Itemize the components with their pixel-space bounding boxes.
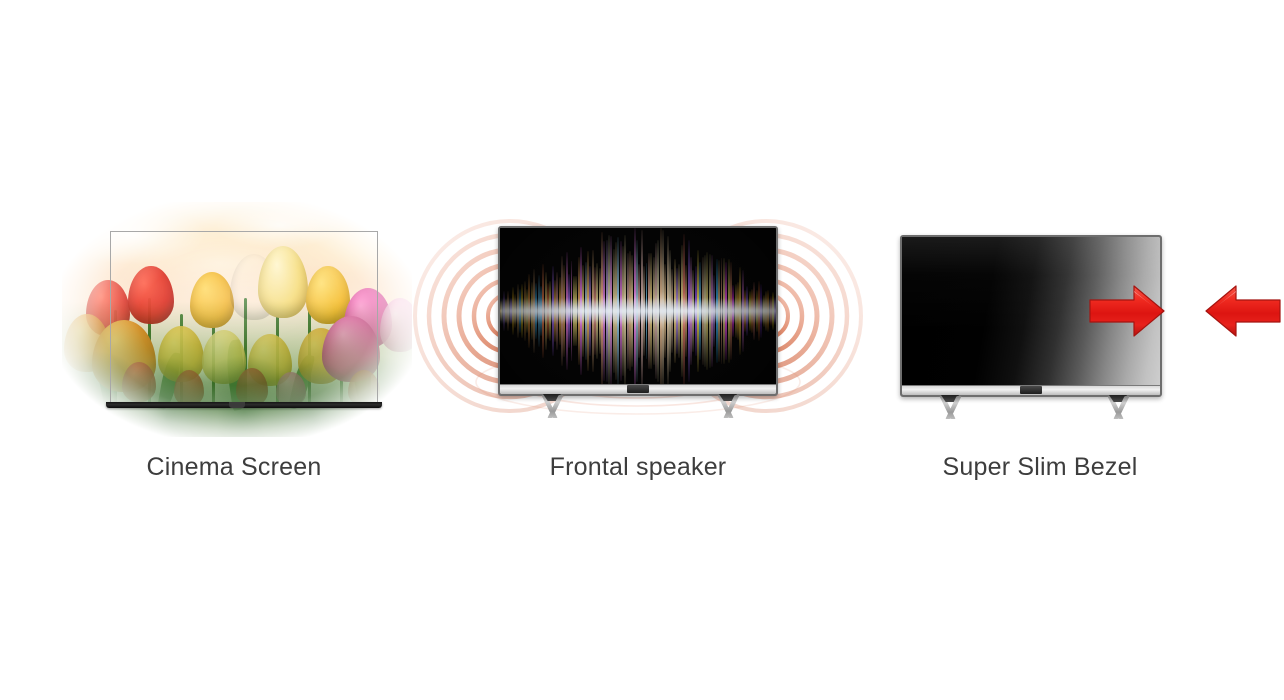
lg-logo-badge	[627, 385, 649, 393]
spectrum-vignette	[500, 228, 776, 394]
lg-logo-badge	[229, 402, 245, 408]
slim-bezel-arrow-pair	[1090, 282, 1280, 342]
caption-cinema-screen: Cinema Screen	[44, 455, 424, 480]
feature-super-slim-bezel: Super Slim Bezel	[850, 180, 1230, 490]
bezel-tv-chin	[902, 385, 1160, 395]
caption-super-slim-bezel: Super Slim Bezel	[850, 455, 1230, 480]
feature-showcase-stage: Cinema Screen	[0, 0, 1284, 700]
speaker-tv-body	[498, 226, 778, 396]
caption-frontal-speaker: Frontal speaker	[448, 455, 828, 480]
lg-logo-badge	[1020, 386, 1042, 394]
feature-frontal-speaker: Frontal speaker	[448, 180, 828, 490]
speaker-tv-chin	[500, 384, 776, 394]
arrow-pointing-right-icon	[1090, 286, 1164, 336]
photo-grass-layer	[62, 301, 412, 437]
audio-spectrum-screen	[500, 228, 776, 394]
feature-cinema-screen: Cinema Screen	[44, 180, 424, 490]
cinema-screen-visual	[62, 202, 412, 437]
arrow-pointing-left-icon	[1206, 286, 1280, 336]
